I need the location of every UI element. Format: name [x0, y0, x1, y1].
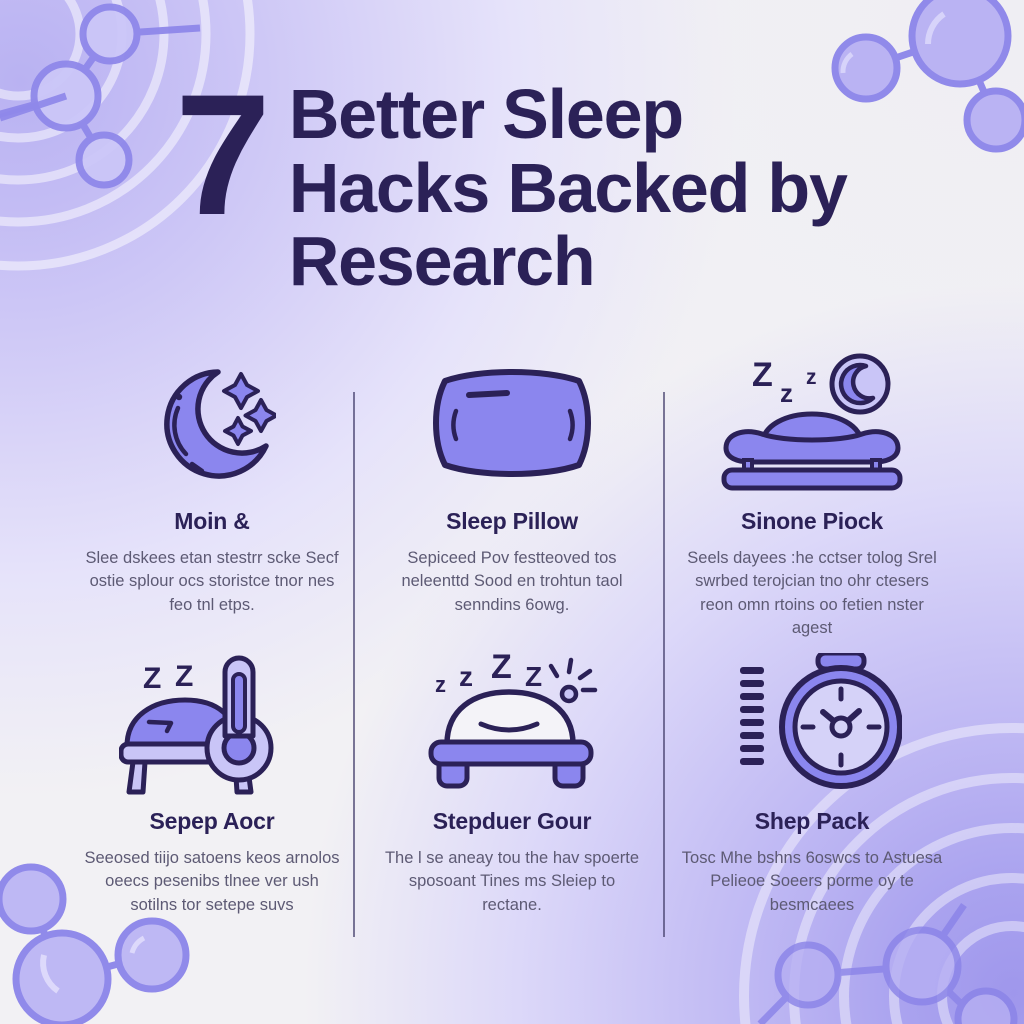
infographic-poster: 7 Better Sleep Hacks Backed by Research …: [0, 0, 1024, 1024]
tip-card-3[interactable]: Z z z Sinone Piock Seels dayees :he ccts…: [662, 348, 962, 648]
tip-card-1-body: Slee dskees etan stestrr scke Secf ostie…: [81, 547, 343, 617]
svg-text:z: z: [780, 378, 793, 408]
svg-text:Z: Z: [525, 661, 542, 692]
bed-zzzz-sparkle-icon: z z Z Z: [417, 648, 607, 798]
svg-text:z: z: [459, 661, 473, 692]
tip-card-5-title: Stepduer Gour: [433, 808, 591, 835]
tip-card-5-body: The l se aneay tou the hav spoerte sposo…: [381, 847, 643, 917]
tip-card-3-title: Sinone Piock: [741, 508, 883, 535]
svg-text:Z: Z: [143, 662, 161, 695]
tip-card-6-title: Shep Pack: [755, 808, 870, 835]
tip-card-2[interactable]: Sleep Pillow Sepiceed Pov festteoved tos…: [362, 348, 662, 648]
headline-text: Better Sleep Hacks Backed by Research: [289, 78, 849, 299]
tip-card-3-body: Seels dayees :he cctser tolog Srel swrbe…: [681, 547, 943, 641]
page-title: 7 Better Sleep Hacks Backed by Research: [0, 78, 1024, 299]
svg-text:Z: Z: [752, 356, 773, 394]
headline-number: 7: [175, 82, 267, 230]
svg-text:Z: Z: [175, 660, 193, 693]
crescent-moon-stars-icon: [148, 348, 276, 498]
bed-thermometer-icon: Z Z: [119, 648, 305, 798]
tip-card-6-body: Tosc Mhe bshns 6oswcs to Astuesa Pelieoe…: [681, 847, 943, 917]
stopwatch-icon: [722, 648, 902, 798]
tip-card-1-title: Moin &: [174, 508, 249, 535]
tip-card-6[interactable]: Shep Pack Tosc Mhe bshns 6oswcs to Astue…: [662, 648, 962, 948]
tip-card-4[interactable]: Z Z Sepep Aocr Seeosed tiijo satoens keo…: [62, 648, 362, 948]
tip-card-2-body: Sepiceed Pov festteoved tos neleenttd So…: [381, 547, 643, 617]
svg-text:z: z: [806, 366, 817, 389]
svg-text:z: z: [435, 672, 446, 697]
tip-card-2-title: Sleep Pillow: [446, 508, 578, 535]
pillow-icon: [427, 348, 597, 498]
tip-card-4-body: Seeosed tiijo satoens keos arnolos oeecs…: [81, 847, 343, 917]
svg-text:Z: Z: [491, 648, 512, 686]
tip-card-5[interactable]: z z Z Z Stepdu: [362, 648, 662, 948]
bed-zzz-moon-clock-icon: Z z z: [714, 348, 910, 498]
tips-grid: Moin & Slee dskees etan stestrr scke Sec…: [62, 348, 962, 948]
tip-card-4-title: Sepep Aocr: [150, 808, 275, 835]
tip-card-1[interactable]: Moin & Slee dskees etan stestrr scke Sec…: [62, 348, 362, 648]
